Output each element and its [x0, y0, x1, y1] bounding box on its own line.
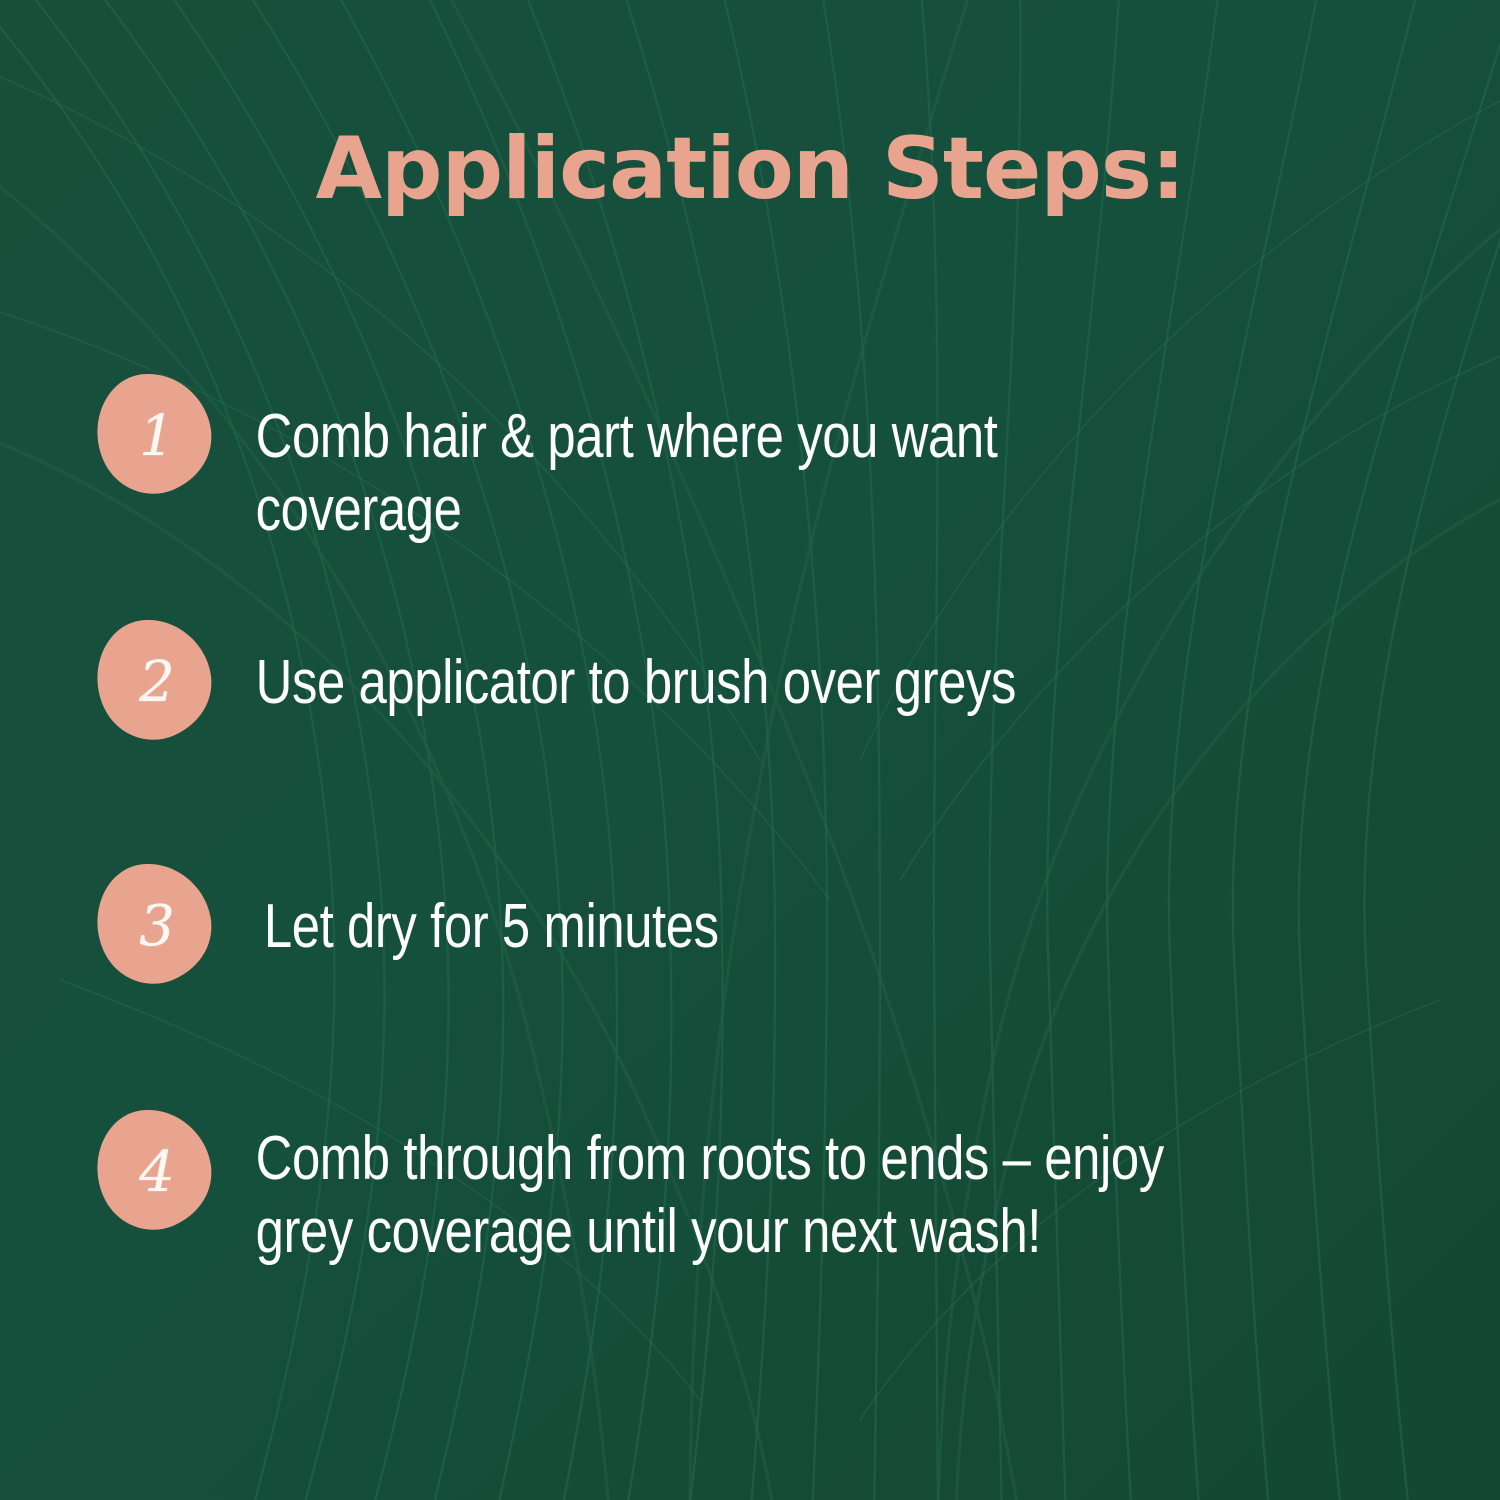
step-number-badge: 1 [95, 372, 213, 496]
step-number-badge: 2 [95, 618, 213, 742]
step-number-text: 1 [95, 372, 213, 496]
application-steps-poster: Application Steps: 1 Comb hair & part wh… [0, 0, 1500, 1500]
step-description: Use applicator to brush over greys [213, 618, 1215, 719]
step-number-text: 3 [95, 862, 213, 986]
steps-list: 1 Comb hair & part where you want covera… [0, 0, 1500, 1500]
step-number-badge: 3 [95, 862, 213, 986]
step-number-badge: 4 [95, 1108, 213, 1232]
list-item: 3 Let dry for 5 minutes [95, 862, 1435, 986]
step-description: Comb hair & part where you want coverage [213, 372, 1215, 546]
list-item: 1 Comb hair & part where you want covera… [95, 372, 1435, 546]
step-number-text: 4 [95, 1108, 213, 1232]
step-description: Let dry for 5 minutes [213, 862, 1215, 963]
step-description: Comb through from roots to ends – enjoy … [213, 1108, 1215, 1268]
list-item: 4 Comb through from roots to ends – enjo… [95, 1108, 1435, 1268]
list-item: 2 Use applicator to brush over greys [95, 618, 1435, 742]
step-number-text: 2 [95, 618, 213, 742]
